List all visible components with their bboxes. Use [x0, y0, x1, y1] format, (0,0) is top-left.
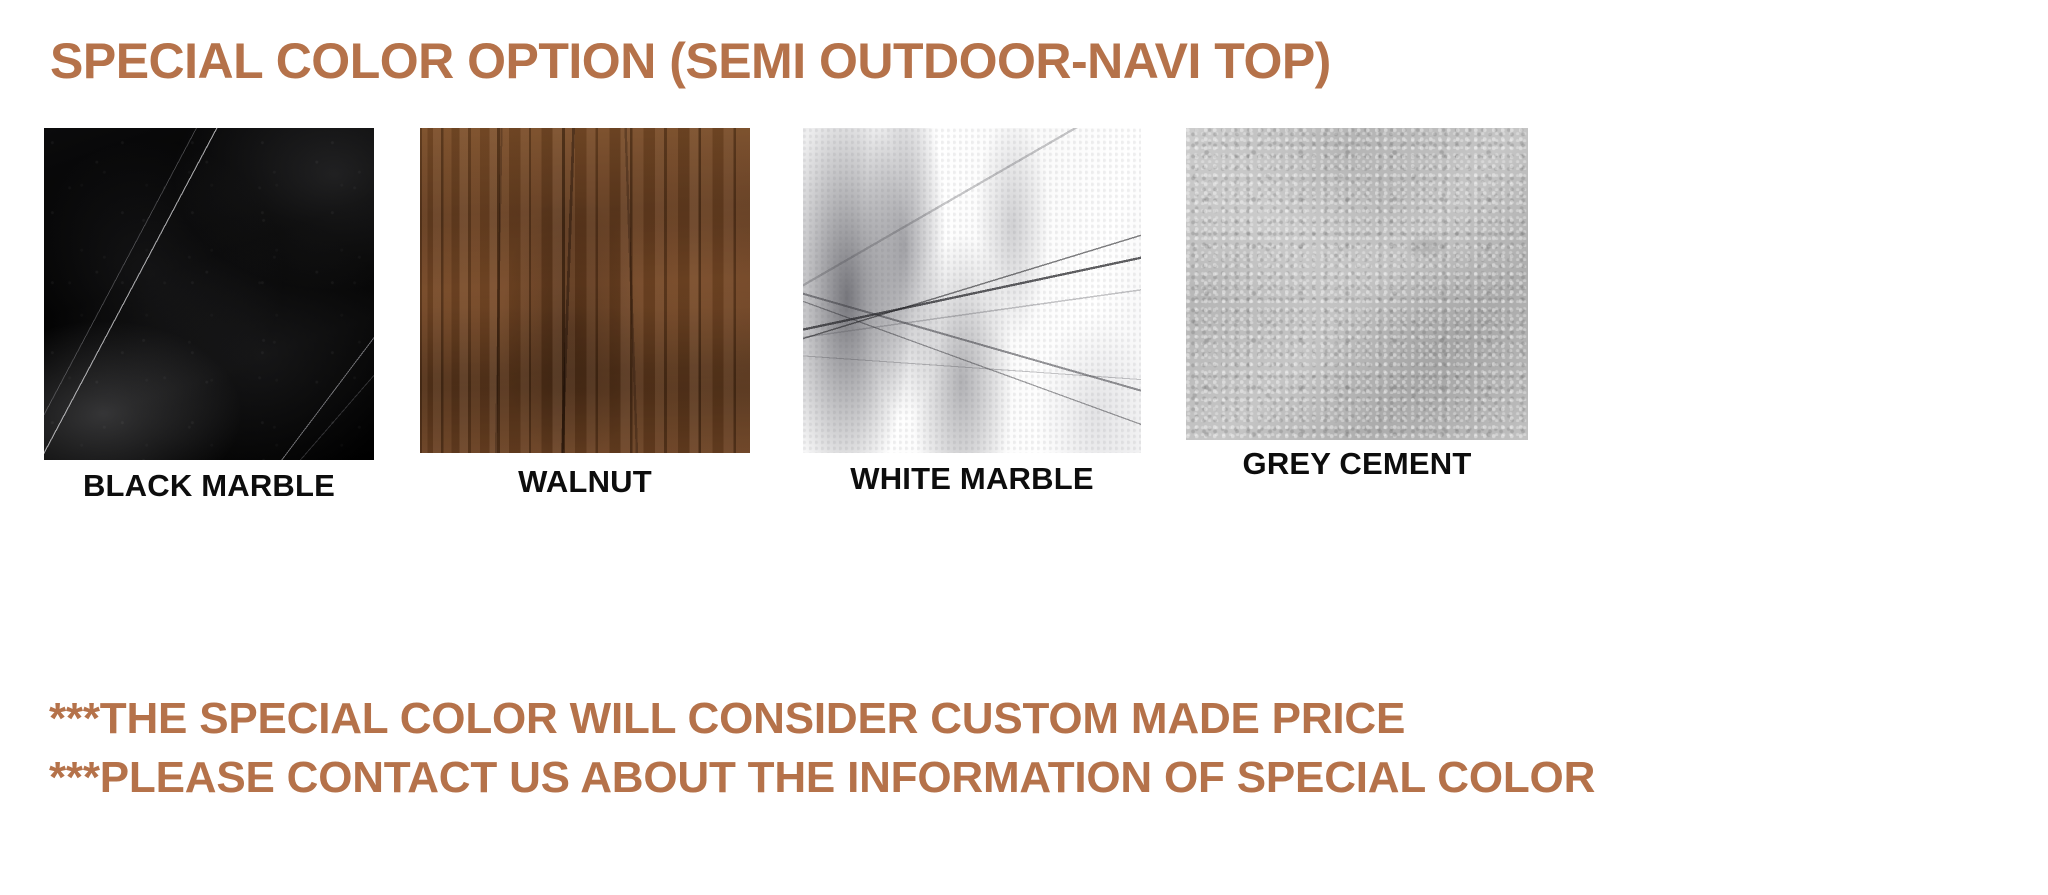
walnut-swatch[interactable] [420, 128, 750, 453]
swatch-label-black-marble: BLACK MARBLE [44, 468, 374, 504]
color-option-black-marble[interactable]: BLACK MARBLE [44, 128, 374, 460]
white-marble-swatch[interactable] [803, 128, 1141, 453]
footer-notes: ***THE SPECIAL COLOR WILL CONSIDER CUSTO… [49, 690, 1595, 807]
swatch-label-white-marble: WHITE MARBLE [803, 461, 1141, 497]
color-option-grey-cement[interactable]: GREY CEMENT [1186, 128, 1528, 440]
swatch-label-walnut: WALNUT [420, 464, 750, 500]
swatch-label-grey-cement: GREY CEMENT [1186, 446, 1528, 482]
page-title: SPECIAL COLOR OPTION (SEMI OUTDOOR-NAVI … [50, 33, 1331, 89]
special-color-option-page: SPECIAL COLOR OPTION (SEMI OUTDOOR-NAVI … [0, 0, 2048, 895]
black-marble-swatch[interactable] [44, 128, 374, 460]
color-option-white-marble[interactable]: WHITE MARBLE [803, 128, 1141, 453]
color-option-walnut[interactable]: WALNUT [420, 128, 750, 453]
color-swatch-row: BLACK MARBLE WALNUT WHITE MARBLE GREY CE… [0, 128, 2048, 508]
note-line-contact-us: ***PLEASE CONTACT US ABOUT THE INFORMATI… [49, 749, 1595, 808]
grey-cement-swatch[interactable] [1186, 128, 1528, 440]
note-line-custom-made-price: ***THE SPECIAL COLOR WILL CONSIDER CUSTO… [49, 690, 1595, 749]
